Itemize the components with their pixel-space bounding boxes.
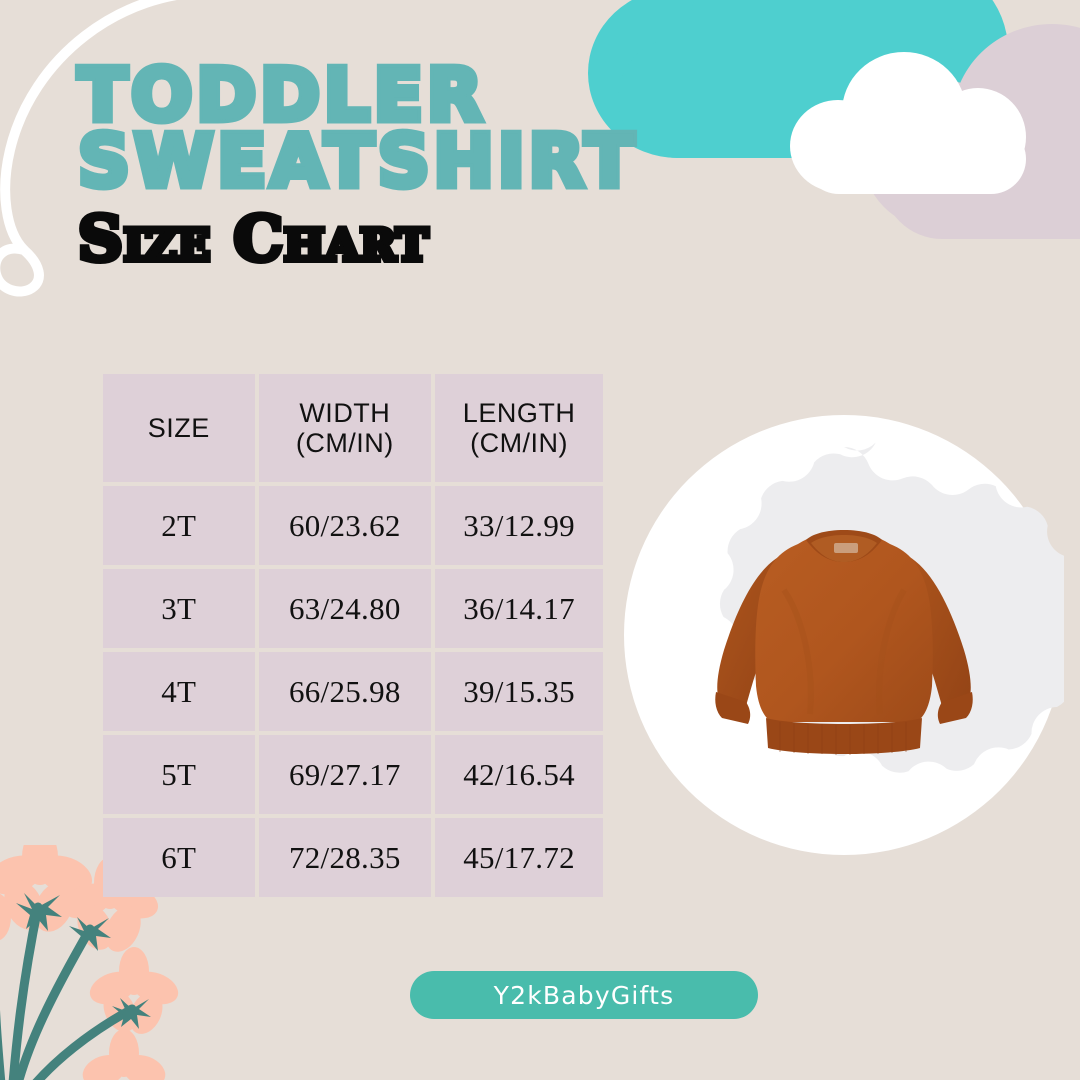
brand-label: Y2kBabyGifts	[494, 981, 675, 1010]
table-row: 4T 66/25.98 39/15.35	[103, 652, 603, 731]
subtitle: Size Chart	[78, 202, 778, 275]
cell-size: 6T	[103, 818, 255, 897]
column-header-size: SIZE	[103, 374, 255, 482]
product-image-frame	[624, 415, 1064, 855]
cell-length: 36/14.17	[435, 569, 603, 648]
table-row: 5T 69/27.17 42/16.54	[103, 735, 603, 814]
table-row: 6T 72/28.35 45/17.72	[103, 818, 603, 897]
cell-width: 72/28.35	[259, 818, 432, 897]
cell-size: 2T	[103, 486, 255, 565]
table-body: 2T 60/23.62 33/12.99 3T 63/24.80 36/14.1…	[103, 486, 603, 897]
brand-badge[interactable]: Y2kBabyGifts	[410, 971, 758, 1019]
cell-width: 69/27.17	[259, 735, 432, 814]
cell-width: 66/25.98	[259, 652, 432, 731]
cell-width: 60/23.62	[259, 486, 432, 565]
cell-size: 3T	[103, 569, 255, 648]
column-header-length-line2: (CM/IN)	[470, 428, 568, 458]
size-chart-graphic: Toddler Sweatshirt Size Chart SIZE WIDTH…	[0, 0, 1080, 1080]
table-header: SIZE WIDTH (CM/IN) LENGTH (CM/IN)	[103, 374, 603, 482]
column-header-size-line1: SIZE	[148, 413, 210, 443]
cell-size: 5T	[103, 735, 255, 814]
column-header-width-line2: (CM/IN)	[296, 428, 394, 458]
column-header-width-line1: WIDTH	[299, 398, 390, 428]
column-header-length-line1: LENGTH	[463, 398, 576, 428]
column-header-width: WIDTH (CM/IN)	[259, 374, 432, 482]
cell-width: 63/24.80	[259, 569, 432, 648]
sweatshirt-photo	[694, 500, 994, 770]
cloud-white-icon	[790, 52, 1040, 192]
page-title: Toddler Sweatshirt Size Chart	[78, 62, 778, 275]
cell-length: 33/12.99	[435, 486, 603, 565]
table-row: 2T 60/23.62 33/12.99	[103, 486, 603, 565]
title-line-2: Sweatshirt	[78, 128, 778, 194]
cell-length: 42/16.54	[435, 735, 603, 814]
table-header-row: SIZE WIDTH (CM/IN) LENGTH (CM/IN)	[103, 374, 603, 482]
cell-length: 45/17.72	[435, 818, 603, 897]
column-header-length: LENGTH (CM/IN)	[435, 374, 603, 482]
table-row: 3T 63/24.80 36/14.17	[103, 569, 603, 648]
cell-length: 39/15.35	[435, 652, 603, 731]
cell-size: 4T	[103, 652, 255, 731]
size-chart-table: SIZE WIDTH (CM/IN) LENGTH (CM/IN) 2T 60/…	[99, 370, 607, 901]
